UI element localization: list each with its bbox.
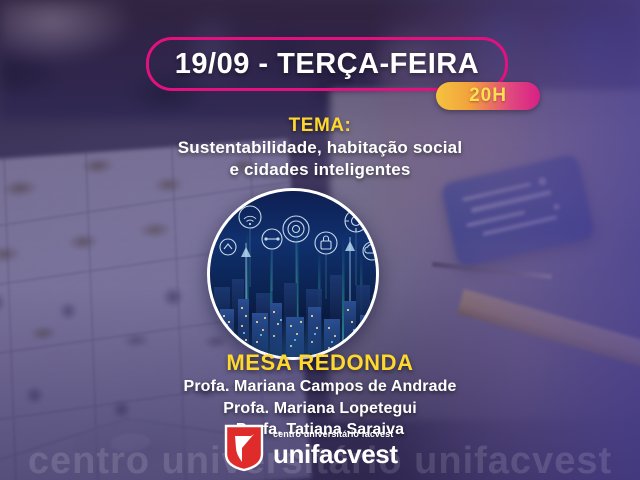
theme-label: TEMA: — [0, 115, 640, 137]
event-poster: centro universitário unifacvest 19/09 - … — [0, 0, 640, 480]
logo-subtitle: centro universitário facvest — [273, 430, 398, 439]
hour-badge-label: 20H — [469, 85, 507, 107]
city-glow — [210, 257, 376, 357]
hour-badge: 20H — [436, 82, 540, 110]
speaker-name-1: Profa. Mariana Campos de Andrade — [0, 376, 640, 397]
smart-city-circle-image — [207, 188, 379, 360]
unifacvest-logo: centro universitário facvest unifacvest — [224, 424, 398, 472]
logo-wordmark: centro universitário facvest unifacvest — [273, 430, 398, 467]
theme-block: TEMA: Sustentabilidade, habitação social… — [0, 115, 640, 182]
logo-name: unifacvest — [273, 441, 398, 467]
panel-title: MESA REDONDA — [0, 350, 640, 376]
theme-line-2: e cidades inteligentes — [0, 159, 640, 181]
speaker-name-2: Profa. Mariana Lopetegui — [0, 398, 640, 419]
shield-icon — [224, 424, 264, 472]
theme-line-1: Sustentabilidade, habitação social — [0, 137, 640, 159]
